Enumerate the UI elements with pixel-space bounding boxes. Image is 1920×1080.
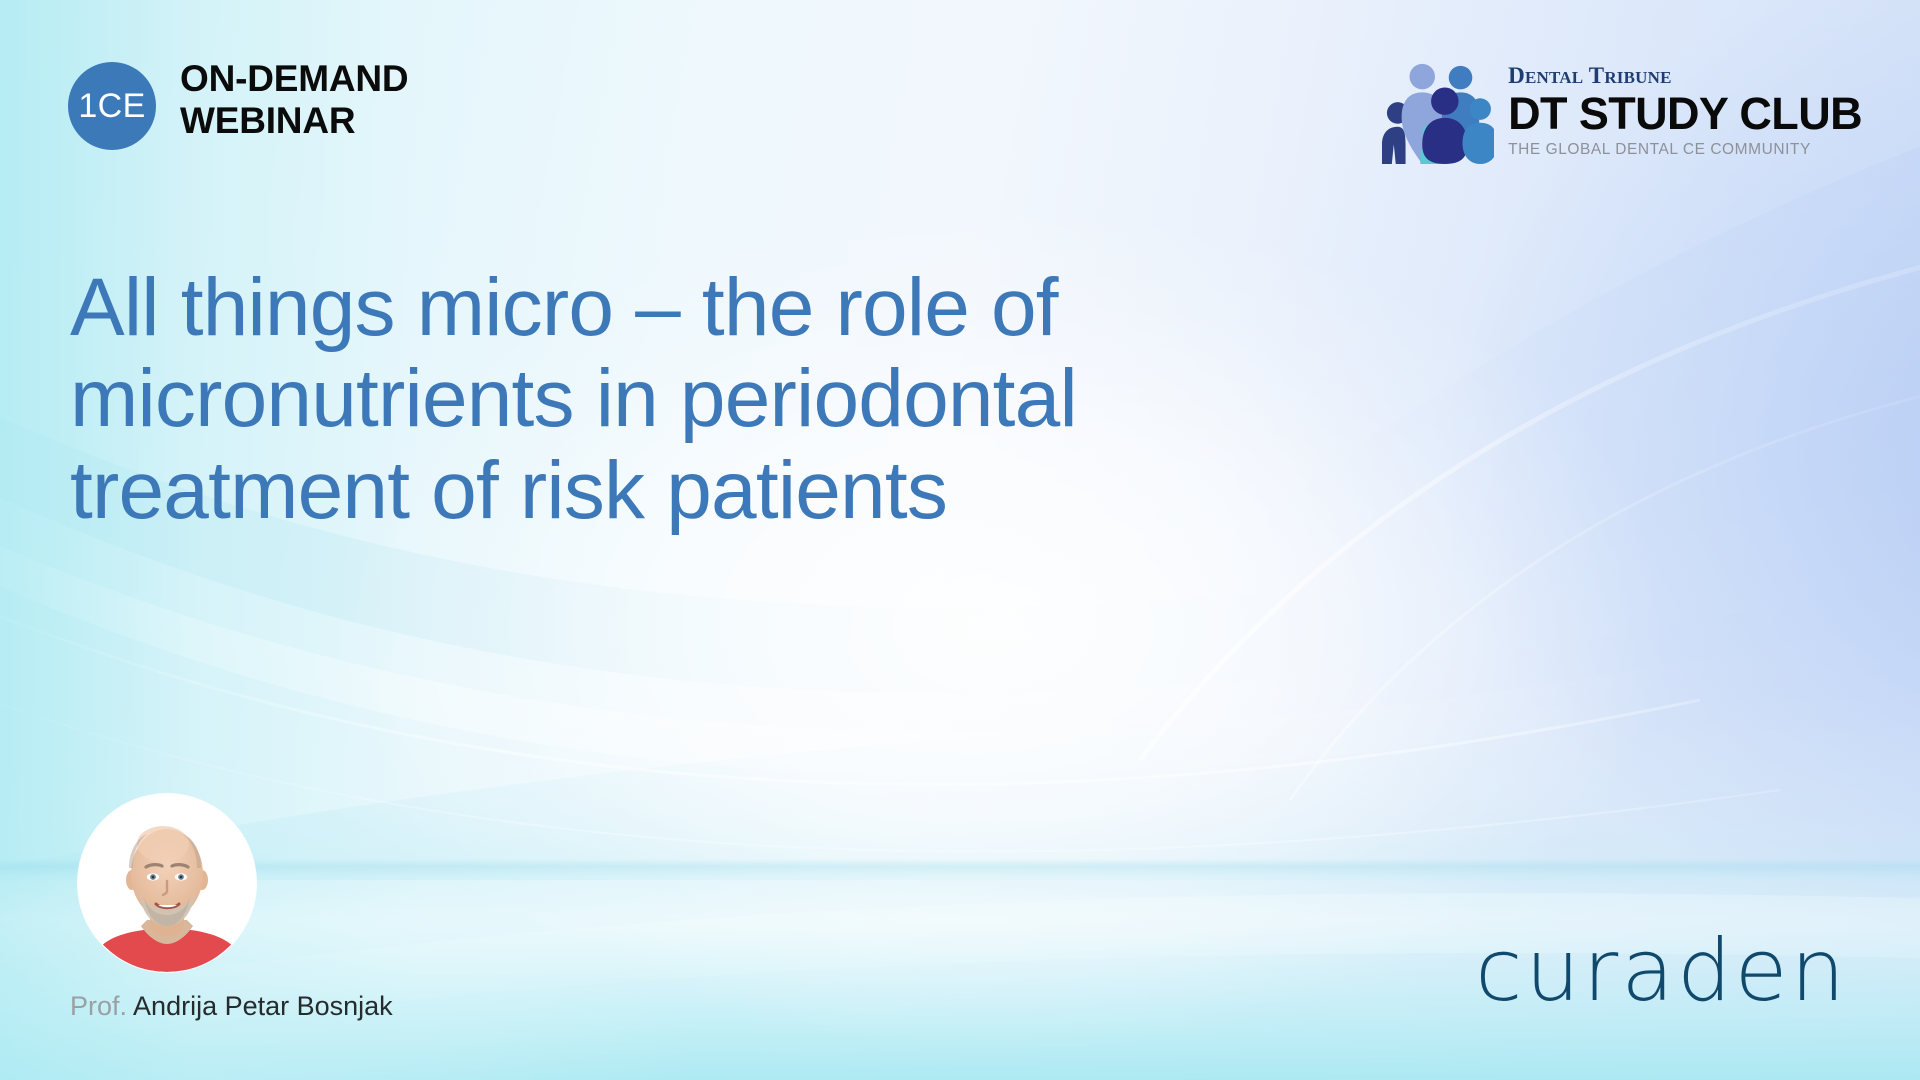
ce-credit-badge: 1CE xyxy=(68,62,156,150)
dt-study-club-name: DT STUDY CLUB xyxy=(1508,91,1862,136)
presenter-name: Prof. Andrija Petar Bosnjak xyxy=(70,990,393,1022)
ce-webinar-block: 1CE ON-DEMAND WEBINAR xyxy=(68,56,408,150)
webinar-title: All things micro – the role of micronutr… xyxy=(70,262,1500,536)
presenter-portrait-icon xyxy=(78,794,256,972)
dt-study-club-logo: DENTAL TRIBUNE DT STUDY CLUB THE GLOBAL … xyxy=(1376,58,1862,164)
ce-credit-badge-label: 1CE xyxy=(78,89,145,123)
webinar-type-label: ON-DEMAND WEBINAR xyxy=(180,58,408,142)
dt-study-club-tagline: THE GLOBAL DENTAL CE COMMUNITY xyxy=(1508,141,1862,158)
presenter-honorific: Prof. xyxy=(70,991,127,1021)
dt-study-club-people-icon xyxy=(1376,58,1494,164)
webinar-slide: 1CE ON-DEMAND WEBINAR xyxy=(0,0,1920,1080)
curaden-sponsor-logo: curaden xyxy=(1475,928,1848,1014)
presenter-block: Prof. Andrija Petar Bosnjak xyxy=(70,794,393,1022)
dental-tribune-publisher: DENTAL TRIBUNE xyxy=(1508,64,1862,88)
slide-header: 1CE ON-DEMAND WEBINAR xyxy=(68,56,1862,176)
presenter-fullname: Andrija Petar Bosnjak xyxy=(133,991,393,1021)
dt-study-club-wordmark: DENTAL TRIBUNE DT STUDY CLUB THE GLOBAL … xyxy=(1508,64,1862,157)
presenter-headshot-avatar xyxy=(78,794,256,972)
